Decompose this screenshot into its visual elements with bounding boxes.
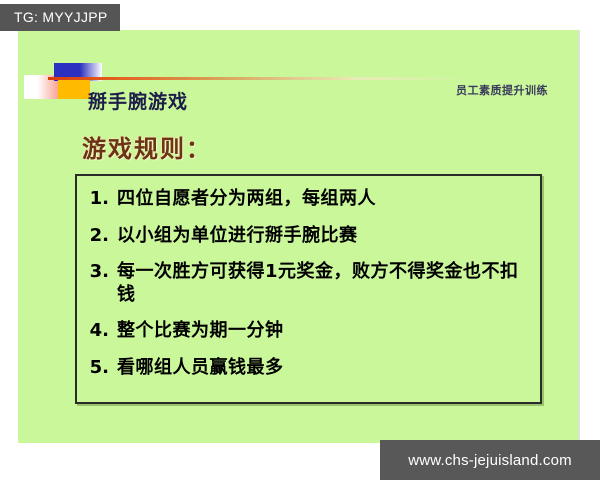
list-item-number: 4. (83, 320, 117, 343)
list-item-text: 每一次胜方可获得1元奖金，败方不得奖金也不扣钱 (117, 261, 532, 306)
list-item-number: 3. (83, 261, 117, 284)
list-item: 3. 每一次胜方可获得1元奖金，败方不得奖金也不扣钱 (83, 261, 532, 306)
list-item-text: 整个比赛为期一分钟 (117, 320, 532, 343)
list-item-number: 2. (83, 225, 117, 248)
list-item-text: 看哪组人员赢钱最多 (117, 357, 532, 380)
list-item-number: 1. (83, 188, 117, 211)
list-item-text: 四位自愿者分为两组，每组两人 (117, 188, 532, 211)
list-item: 4. 整个比赛为期一分钟 (83, 320, 532, 343)
list-item-text: 以小组为单位进行掰手腕比赛 (117, 225, 532, 248)
rules-list: 1. 四位自愿者分为两组，每组两人 2. 以小组为单位进行掰手腕比赛 3. 每一… (77, 176, 540, 379)
list-item-number: 5. (83, 357, 117, 380)
tg-watermark-badge: TG: MYYJJPP (0, 4, 120, 31)
rules-box: 1. 四位自愿者分为两组，每组两人 2. 以小组为单位进行掰手腕比赛 3. 每一… (75, 174, 542, 404)
slide-title: 掰手腕游戏 (88, 87, 188, 114)
presentation-slide: 掰手腕游戏 员工素质提升训练 游戏规则： 1. 四位自愿者分为两组，每组两人 2… (18, 30, 578, 443)
list-item: 2. 以小组为单位进行掰手腕比赛 (83, 225, 532, 248)
list-item: 5. 看哪组人员赢钱最多 (83, 357, 532, 380)
presentation-slide-area: 掰手腕游戏 员工素质提升训练 游戏规则： 1. 四位自愿者分为两组，每组两人 2… (0, 30, 600, 443)
rules-heading: 游戏规则： (82, 129, 212, 164)
decorative-orange-square (58, 78, 90, 99)
header-course-label: 员工素质提升训练 (456, 82, 548, 98)
list-item: 1. 四位自愿者分为两组，每组两人 (83, 188, 532, 211)
decorative-gradient-rule (48, 77, 548, 80)
site-watermark: www.chs-jejuisland.com (380, 440, 600, 480)
